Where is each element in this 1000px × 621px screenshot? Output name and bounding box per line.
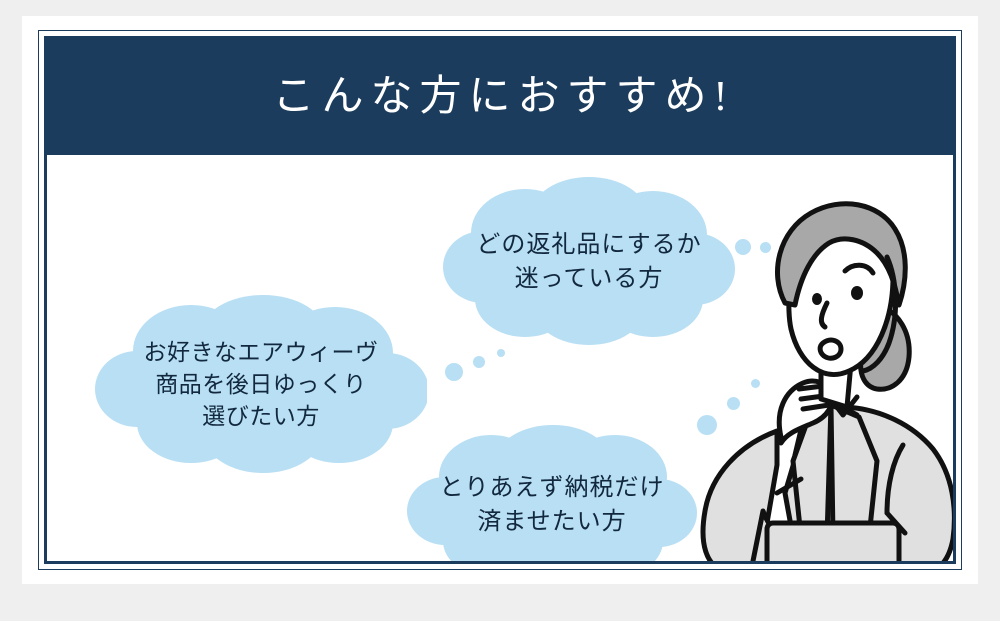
- thought-dot: [497, 349, 505, 357]
- cloud-top-text: どの返礼品にするか 迷っている方: [476, 229, 701, 295]
- thought-cloud-bottom: とりあえず納税だけ 済ませたい方: [407, 423, 697, 561]
- content-stage: どの返礼品にするか 迷っている方: [47, 155, 953, 561]
- thought-dot: [473, 356, 485, 368]
- dot-trail-left: [445, 347, 523, 381]
- poster-card: こんな方におすすめ!: [22, 16, 978, 584]
- cloud-left-text: お好きなエアウィーヴ 商品を後日ゆっくり 選びたい方: [144, 337, 379, 432]
- page-title: こんな方におすすめ!: [266, 76, 735, 118]
- cloud-bottom-text: とりあえず納税だけ 済ませたい方: [440, 472, 665, 538]
- poster-page: こんな方におすすめ!: [0, 0, 1000, 621]
- thought-cloud-left: お好きなエアウィーヴ 商品を後日ゆっくり 選びたい方: [95, 295, 427, 475]
- thinking-woman-icon: [681, 193, 953, 561]
- thought-dot: [445, 363, 463, 381]
- header-band: こんな方におすすめ!: [47, 39, 953, 155]
- thinking-woman-illustration: [681, 193, 953, 561]
